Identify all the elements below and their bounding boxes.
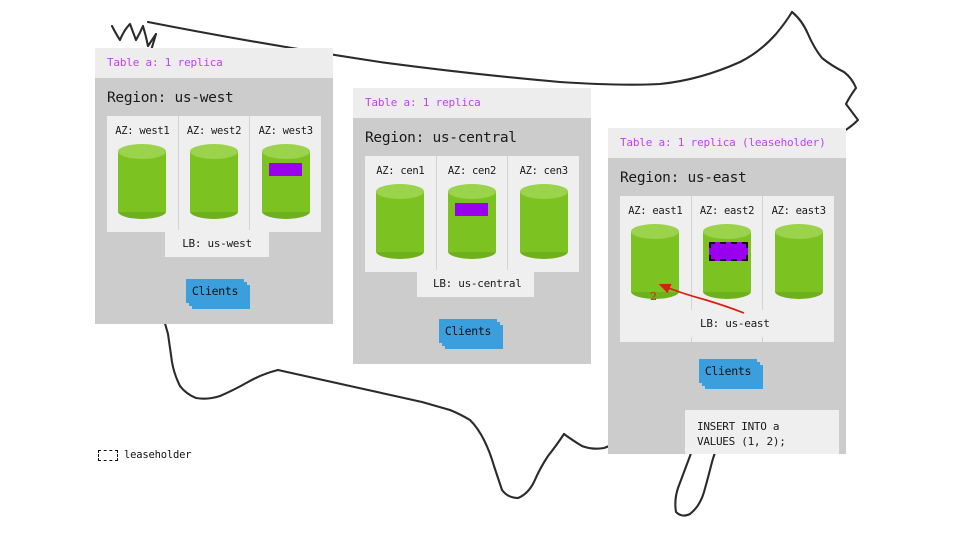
sql-statement-box: INSERT INTO a VALUES (1, 2); (685, 410, 839, 454)
node-cylinder-east1[interactable] (631, 224, 679, 299)
cylinder-top (118, 144, 166, 159)
az-row-us-central: AZ: cen1 AZ: cen2 (365, 156, 579, 272)
region-panel-us-west: Table a: 1 replica Region: us-west AZ: w… (95, 48, 333, 324)
region-panel-us-east: Table a: 1 replica (leaseholder) Region:… (608, 128, 846, 454)
node-cylinder-west2[interactable] (190, 144, 238, 219)
cylinder-top (376, 184, 424, 199)
cylinder-body (376, 191, 424, 252)
clients-label-us-east[interactable]: Clients (699, 359, 757, 383)
replica-block-east2-leaseholder (709, 242, 748, 261)
az-label-west2: AZ: west2 (179, 125, 250, 137)
node-cylinder-cen1[interactable] (376, 184, 424, 259)
node-cylinder-west3[interactable] (262, 144, 310, 219)
node-cylinder-east3[interactable] (775, 224, 823, 299)
cylinder-body (520, 191, 568, 252)
cylinder-top (520, 184, 568, 199)
az-cell-cen1[interactable]: AZ: cen1 (365, 156, 437, 272)
az-label-west1: AZ: west1 (107, 125, 178, 137)
diagram-canvas: Table a: 1 replica Region: us-west AZ: w… (0, 0, 960, 540)
clients-label-us-central[interactable]: Clients (439, 319, 497, 343)
node-cylinder-cen2[interactable] (448, 184, 496, 259)
cylinder-top (190, 144, 238, 159)
cylinder-body (118, 151, 166, 212)
cylinder-top (631, 224, 679, 239)
az-cell-west1[interactable]: AZ: west1 (107, 116, 179, 232)
az-label-cen3: AZ: cen3 (508, 165, 579, 177)
clients-stack-us-east[interactable]: Clients (699, 359, 769, 389)
region-panel-us-central: Table a: 1 replica Region: us-central AZ… (353, 88, 591, 364)
cylinder-top (775, 224, 823, 239)
region-header-us-east: Table a: 1 replica (leaseholder) (608, 128, 846, 158)
az-label-cen2: AZ: cen2 (437, 165, 508, 177)
cylinder-top (262, 144, 310, 159)
load-balancer-us-west[interactable]: LB: us-west (165, 230, 269, 257)
az-label-east3: AZ: east3 (763, 205, 834, 217)
az-cell-west2[interactable]: AZ: west2 (179, 116, 251, 232)
az-cell-cen3[interactable]: AZ: cen3 (508, 156, 579, 272)
cylinder-body (190, 151, 238, 212)
cylinder-body (703, 231, 751, 292)
cylinder-body (631, 231, 679, 292)
region-title-us-central: Region: us-central (353, 118, 591, 156)
cylinder-top (448, 184, 496, 199)
az-label-west3: AZ: west3 (250, 125, 321, 137)
region-header-us-central: Table a: 1 replica (353, 88, 591, 118)
az-label-east1: AZ: east1 (620, 205, 691, 217)
region-header-us-west: Table a: 1 replica (95, 48, 333, 78)
region-title-us-west: Region: us-west (95, 78, 333, 116)
cylinder-body (262, 151, 310, 212)
load-balancer-us-east[interactable]: LB: us-east (684, 310, 784, 337)
cylinder-body (775, 231, 823, 292)
legend-label: leaseholder (124, 449, 191, 461)
az-cell-cen2[interactable]: AZ: cen2 (437, 156, 509, 272)
az-label-cen1: AZ: cen1 (365, 165, 436, 177)
node-cylinder-cen3[interactable] (520, 184, 568, 259)
arrow-step-label: 2 (650, 290, 657, 303)
clients-label-us-west[interactable]: Clients (186, 279, 244, 303)
az-cell-west3[interactable]: AZ: west3 (250, 116, 321, 232)
region-title-us-east: Region: us-east (608, 158, 846, 196)
clients-stack-us-west[interactable]: Clients (186, 279, 256, 309)
az-label-east2: AZ: east2 (692, 205, 763, 217)
clients-stack-us-central[interactable]: Clients (439, 319, 509, 349)
legend: leaseholder (98, 449, 191, 461)
cylinder-top (703, 224, 751, 239)
cylinder-body (448, 191, 496, 252)
node-cylinder-east2[interactable] (703, 224, 751, 299)
replica-block-west3 (269, 163, 302, 176)
az-cell-east1[interactable]: AZ: east1 (620, 196, 692, 342)
dashed-rectangle-icon (98, 450, 118, 461)
az-row-us-west: AZ: west1 AZ: west2 (107, 116, 321, 232)
load-balancer-us-central[interactable]: LB: us-central (417, 270, 534, 297)
replica-block-cen2 (455, 203, 488, 216)
node-cylinder-west1[interactable] (118, 144, 166, 219)
